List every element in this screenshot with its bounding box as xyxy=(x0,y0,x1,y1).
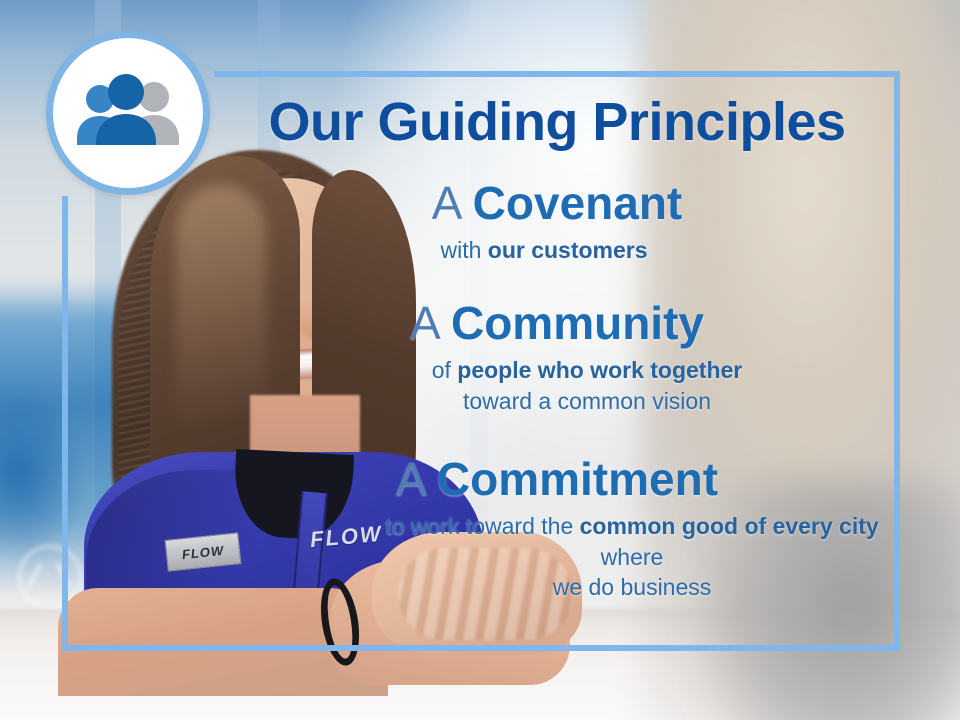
principle-covenant-subtext: with our customers xyxy=(214,235,900,265)
principle-commitment-lead: A Commitment xyxy=(214,455,900,503)
principle-community-keyword: Community xyxy=(451,297,704,349)
group-of-people-icon xyxy=(69,73,187,153)
page-title: Our Guiding Principles xyxy=(214,95,900,149)
principle-community-subtext: of people who work together toward a com… xyxy=(214,355,900,416)
principle-community-sub-bold: people who work together xyxy=(457,357,742,383)
principle-commitment: A Commitment to work toward the common g… xyxy=(214,455,900,602)
principle-community-article: A xyxy=(410,297,451,349)
principle-commitment-keyword: Commitment xyxy=(437,453,718,505)
principle-community: A Community of people who work together … xyxy=(214,299,900,416)
principle-commitment-sub-line2: we do business xyxy=(553,574,712,600)
principle-covenant-lead: A Covenant xyxy=(214,179,900,227)
people-badge xyxy=(46,31,210,195)
frame-border-left xyxy=(62,196,68,651)
principle-community-sub-line2: toward a common vision xyxy=(463,388,711,414)
principle-commitment-article: A xyxy=(396,453,437,505)
principle-covenant-keyword: Covenant xyxy=(473,177,683,229)
principle-commitment-sub-suffix: where xyxy=(601,544,664,570)
guiding-principles-poster: FLOW FLOW Our Guiding Principles xyxy=(0,0,960,720)
principles-content: Our Guiding Principles A Covenant with o… xyxy=(214,71,900,651)
principle-covenant-article: A xyxy=(432,177,473,229)
principle-covenant-sub-prefix: with xyxy=(440,237,487,263)
principle-commitment-subtext: to work toward the common good of every … xyxy=(214,511,900,602)
principle-covenant-sub-bold: our customers xyxy=(488,237,648,263)
principle-community-lead: A Community xyxy=(214,299,900,347)
principle-community-sub-prefix: of xyxy=(432,357,458,383)
principle-commitment-sub-prefix: to work toward the xyxy=(385,513,579,539)
principle-covenant: A Covenant with our customers xyxy=(214,179,900,266)
principle-commitment-sub-bold: common good of every city xyxy=(580,513,879,539)
